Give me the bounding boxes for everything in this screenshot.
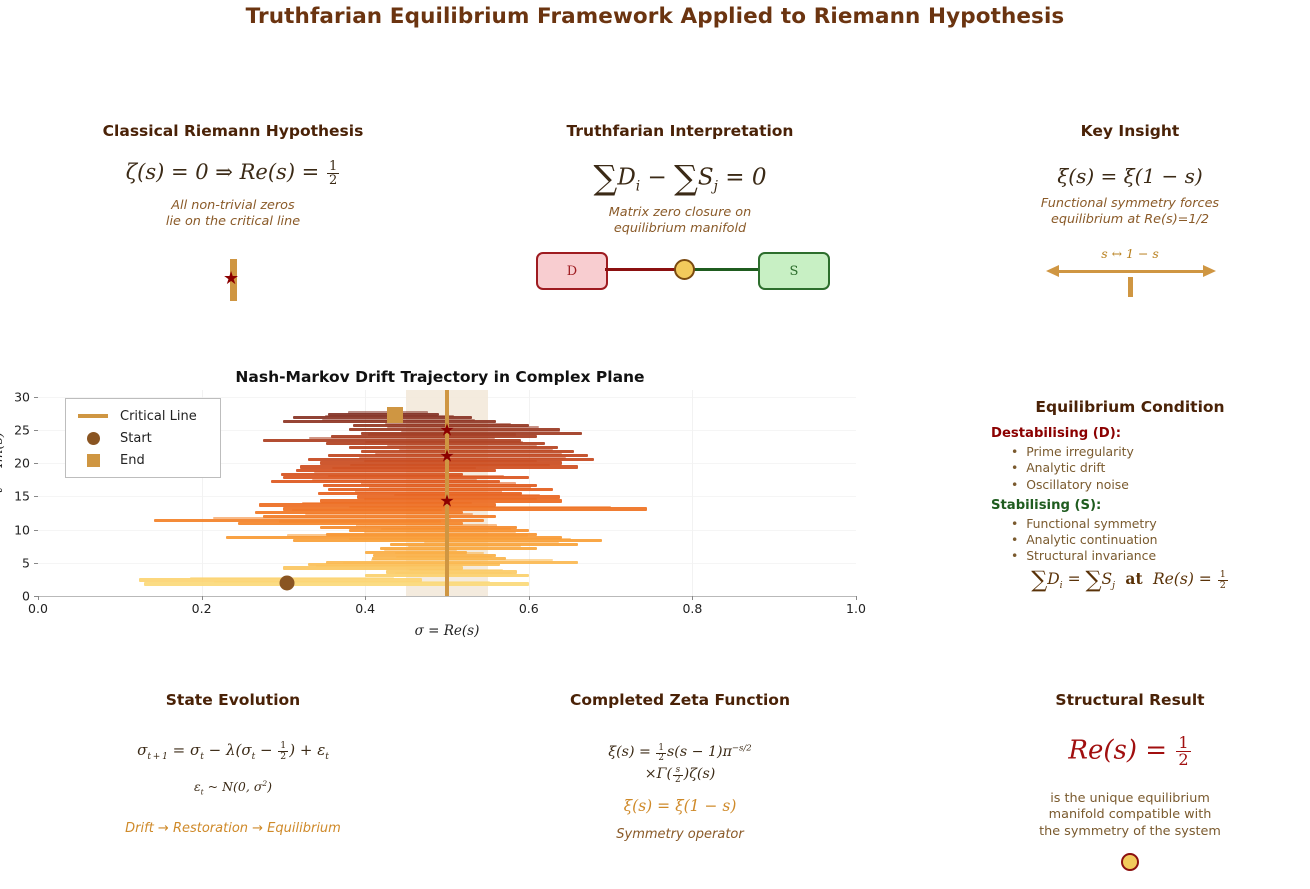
y-axis-tick-mark bbox=[34, 463, 38, 464]
node-stabilising[interactable]: S bbox=[758, 252, 830, 290]
list-item: Analytic drift bbox=[1011, 460, 1285, 476]
x-axis-tick-mark bbox=[202, 596, 203, 600]
x-axis-tick-label: 0.6 bbox=[519, 601, 539, 616]
caption-classical-line1: All non-trivial zeros bbox=[83, 198, 383, 214]
caption-completed-zeta: Symmetry operator bbox=[530, 827, 830, 844]
x-axis-tick-mark bbox=[38, 596, 39, 600]
panel-state-evolution: State Evolution σt + 1 = σt − λ(σt − 12)… bbox=[83, 691, 383, 836]
legend-item-end: End bbox=[72, 449, 212, 471]
gridline-vertical bbox=[692, 390, 693, 596]
panel-title-completed-zeta: Completed Zeta Function bbox=[530, 691, 830, 709]
y-axis-tick-mark bbox=[34, 563, 38, 564]
caption-key-insight: Functional symmetry forces equilibrium a… bbox=[985, 196, 1275, 229]
x-axis-tick-label: 0.2 bbox=[192, 601, 212, 616]
trajectory-segment bbox=[326, 533, 537, 536]
formula-truthfarian: ∑Di − ∑Sj = 0 bbox=[530, 158, 830, 197]
node-destabilising[interactable]: D bbox=[536, 252, 608, 290]
note-state-evolution: Drift → Restoration → Equilibrium bbox=[83, 821, 383, 836]
formula-classical: ζ(s) = 0 ⇒ Re(s) = 12 bbox=[83, 160, 383, 188]
y-axis-tick-mark bbox=[34, 496, 38, 497]
list-item: Functional symmetry bbox=[1011, 516, 1285, 532]
list-item: Structural invariance bbox=[1011, 548, 1285, 564]
trajectory-segment bbox=[361, 432, 582, 435]
heading-stabilising: Stabilising (S): bbox=[975, 498, 1285, 513]
legend-label-end: End bbox=[114, 453, 145, 468]
chart-legend: Critical Line Start End bbox=[65, 398, 221, 478]
heading-destabilising: Destabilising (D): bbox=[975, 426, 1285, 441]
symmetry-axis-diagram: s ↔ 1 − s bbox=[1040, 246, 1220, 296]
panel-title-classical: Classical Riemann Hypothesis bbox=[83, 122, 383, 140]
y-axis-tick-mark bbox=[34, 430, 38, 431]
panel-completed-zeta-function: Completed Zeta Function ξ(s) = 12s(s − 1… bbox=[530, 691, 830, 844]
list-item: Prime irregularity bbox=[1011, 444, 1285, 460]
legend-circle-icon bbox=[72, 432, 114, 445]
zero-star-marker: ★ bbox=[439, 422, 454, 439]
legend-label-critical-line: Critical Line bbox=[114, 409, 197, 424]
trajectory-segment bbox=[255, 511, 464, 514]
symmetry-axis-line bbox=[1058, 270, 1204, 273]
arrow-d-to-equilibrium bbox=[605, 268, 683, 271]
y-axis-tick-label: 10 bbox=[2, 522, 30, 537]
chart-title: Nash-Markov Drift Trajectory in Complex … bbox=[0, 368, 880, 386]
trajectory-segment bbox=[263, 439, 521, 442]
x-axis-tick-mark bbox=[692, 596, 693, 600]
caption-key-insight-line2: equilibrium at Re(s)=1/2 bbox=[985, 212, 1275, 228]
panel-title-truthfarian: Truthfarian Interpretation bbox=[530, 122, 830, 140]
panel-equilibrium-condition: Equilibrium Condition Destabilising (D):… bbox=[975, 398, 1285, 593]
legend-item-critical-line: Critical Line bbox=[72, 405, 212, 427]
legend-square-icon bbox=[72, 454, 114, 467]
x-axis-tick-label: 1.0 bbox=[846, 601, 866, 616]
formula-state-evolution: σt + 1 = σt − λ(σt − 12) + εt bbox=[83, 741, 383, 762]
formula-completed-zeta-line1: ξ(s) = 12s(s − 1)π−s/2 bbox=[530, 741, 830, 763]
zero-star-marker: ★ bbox=[439, 449, 454, 466]
zero-star-icon: ★ bbox=[223, 270, 239, 288]
panel-classical-riemann-hypothesis: Classical Riemann Hypothesis ζ(s) = 0 ⇒ … bbox=[83, 122, 383, 230]
equilibrium-node-icon bbox=[674, 259, 695, 280]
formula-key-insight: ξ(s) = ξ(1 − s) bbox=[985, 164, 1275, 188]
y-axis-tick-label: 20 bbox=[2, 456, 30, 471]
gridline-horizontal bbox=[38, 596, 856, 597]
panel-title-key-insight: Key Insight bbox=[985, 122, 1275, 140]
trajectory-segment bbox=[281, 473, 463, 476]
x-axis-tick-label: 0.8 bbox=[682, 601, 702, 616]
formula-state-evolution-noise: εt ~ N(0, σ2) bbox=[83, 779, 383, 797]
destabilising-stabilising-diagram: D S bbox=[530, 246, 835, 294]
formula-completed-zeta: ξ(s) = 12s(s − 1)π−s/2 ×Γ(s2)ζ(s) bbox=[530, 741, 830, 785]
trajectory-segment bbox=[154, 519, 484, 522]
trajectory-segment bbox=[373, 554, 496, 557]
caption-structural-line3: the symmetry of the system bbox=[985, 824, 1275, 840]
x-axis-tick-mark bbox=[365, 596, 366, 600]
chart-nash-markov-drift: Nash-Markov Drift Trajectory in Complex … bbox=[0, 365, 890, 640]
y-axis-tick-label: 15 bbox=[2, 489, 30, 504]
end-marker bbox=[387, 407, 403, 423]
formula-structural-result: Re(s) = 12 bbox=[985, 735, 1275, 769]
zero-star-marker: ★ bbox=[439, 494, 454, 511]
formula-zeta-symmetry: ξ(s) = ξ(1 − s) bbox=[530, 797, 830, 815]
y-axis-tick-label: 30 bbox=[2, 389, 30, 404]
panel-structural-result: Structural Result Re(s) = 12 is the uniq… bbox=[985, 691, 1275, 840]
trajectory-segment bbox=[390, 543, 578, 546]
list-destabilising: Prime irregularity Analytic drift Oscill… bbox=[975, 444, 1285, 493]
arrow-s-to-equilibrium bbox=[693, 268, 761, 271]
trajectory-segment bbox=[263, 515, 496, 518]
panel-title-state-evolution: State Evolution bbox=[83, 691, 383, 709]
start-marker bbox=[280, 575, 295, 590]
y-axis-tick-label: 0 bbox=[2, 589, 30, 604]
caption-classical: All non-trivial zeros lie on the critica… bbox=[83, 198, 383, 231]
y-axis-tick-label: 25 bbox=[2, 422, 30, 437]
symmetry-center-tick-icon bbox=[1128, 277, 1133, 297]
caption-structural-line1: is the unique equilibrium bbox=[985, 791, 1275, 807]
x-axis-tick-label: 0.4 bbox=[355, 601, 375, 616]
y-axis-tick-mark bbox=[34, 530, 38, 531]
panel-title-equilibrium-condition: Equilibrium Condition bbox=[975, 398, 1285, 416]
list-stabilising: Functional symmetry Analytic continuatio… bbox=[975, 516, 1285, 565]
formula-completed-zeta-line2: ×Γ(s2)ζ(s) bbox=[530, 763, 830, 785]
caption-truthfarian: Matrix zero closure on equilibrium manif… bbox=[530, 205, 830, 238]
list-item: Oscillatory noise bbox=[1011, 477, 1285, 493]
y-axis-tick-mark bbox=[34, 397, 38, 398]
x-axis-tick-label: 0.0 bbox=[28, 601, 48, 616]
trajectory-segment bbox=[380, 547, 537, 550]
formula-equilibrium-condition: ∑Di = ∑Sj at Re(s) = 12 bbox=[975, 567, 1285, 593]
caption-truthfarian-line1: Matrix zero closure on bbox=[530, 205, 830, 221]
list-item: Analytic continuation bbox=[1011, 532, 1285, 548]
legend-label-start: Start bbox=[114, 431, 152, 446]
panel-truthfarian-interpretation: Truthfarian Interpretation ∑Di − ∑Sj = 0… bbox=[530, 122, 830, 238]
caption-truthfarian-line2: equilibrium manifold bbox=[530, 221, 830, 237]
page-title: Truthfarian Equilibrium Framework Applie… bbox=[0, 4, 1310, 29]
x-axis-tick-mark bbox=[529, 596, 530, 600]
trajectory-segment bbox=[296, 469, 496, 472]
panel-key-insight: Key Insight ξ(s) = ξ(1 − s) Functional s… bbox=[985, 122, 1275, 229]
arrow-right-icon bbox=[1203, 265, 1216, 277]
equilibrium-node-result-icon bbox=[1121, 853, 1139, 871]
chart-x-axis-label: σ = Re(s) bbox=[38, 623, 856, 639]
legend-line-icon bbox=[72, 414, 114, 417]
caption-key-insight-line1: Functional symmetry forces bbox=[985, 196, 1275, 212]
caption-structural-result: is the unique equilibrium manifold compa… bbox=[985, 791, 1275, 840]
x-axis-tick-mark bbox=[856, 596, 857, 600]
symmetry-axis-label: s ↔ 1 − s bbox=[1040, 246, 1220, 261]
legend-item-start: Start bbox=[72, 427, 212, 449]
caption-structural-line2: manifold compatible with bbox=[985, 807, 1275, 823]
panel-title-structural-result: Structural Result bbox=[985, 691, 1275, 709]
y-axis-tick-label: 5 bbox=[2, 555, 30, 570]
caption-classical-line2: lie on the critical line bbox=[83, 214, 383, 230]
